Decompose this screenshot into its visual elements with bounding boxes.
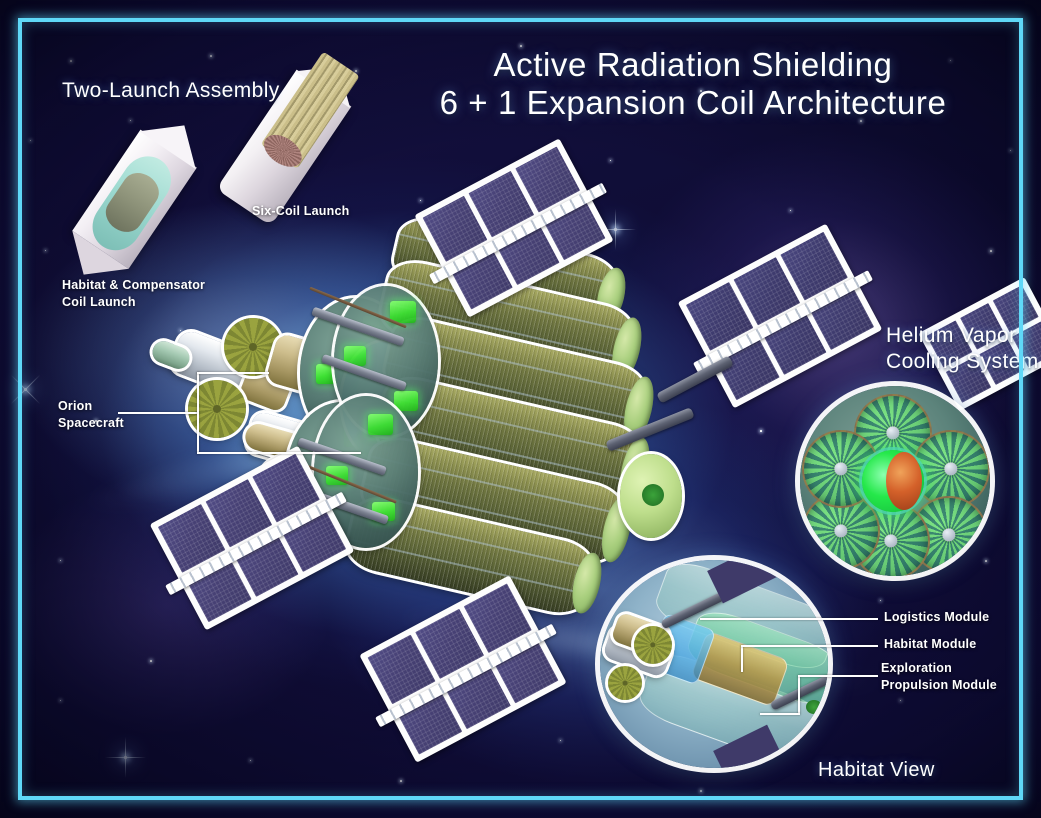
helium-vapor-inset <box>800 386 990 576</box>
habitat-module-label: Habitat Module <box>884 636 976 653</box>
title-line-1: Active Radiation Shielding <box>393 46 993 84</box>
orion-solar-array <box>634 626 672 664</box>
orion-solar-array <box>608 666 642 700</box>
habitat-compensator-launch-line-2: Coil Launch <box>62 294 205 311</box>
leader-line-habitat <box>741 645 878 647</box>
leader-line-logistics <box>700 618 878 620</box>
page-title: Active Radiation Shielding 6 + 1 Expansi… <box>393 46 993 123</box>
leader-line-exploration <box>798 675 878 677</box>
habitat-compensator-launch-line-1: Habitat & Compensator <box>62 277 205 294</box>
title-line-2: 6 + 1 Expansion Coil Architecture <box>393 84 993 122</box>
habitat-compensator-launch-label: Habitat & Compensator Coil Launch <box>62 277 205 311</box>
poster-canvas: Active Radiation Shielding 6 + 1 Expansi… <box>0 0 1041 818</box>
orion-label-line-1: Orion <box>58 398 124 415</box>
coil-cluster <box>286 276 706 606</box>
habitat-view-inset <box>600 560 828 768</box>
logistics-module-label: Logistics Module <box>884 609 989 626</box>
orion-label-line-2: Spacecraft <box>58 415 124 432</box>
helium-vapor-core <box>886 452 922 510</box>
helium-label-line-2: Cooling System <box>886 349 1039 375</box>
leader-line-orion <box>118 412 198 414</box>
two-launch-assembly-heading: Two-Launch Assembly <box>62 78 280 104</box>
habitat-view-heading: Habitat View <box>818 758 935 782</box>
exploration-propulsion-module-label: Exploration Propulsion Module <box>881 660 997 694</box>
aft-antenna-cluster <box>642 484 664 506</box>
leader-line-exploration <box>760 713 800 715</box>
leader-line-orion <box>197 452 361 454</box>
orion-spacecraft-label: Orion Spacecraft <box>58 398 124 432</box>
exploration-label-line-1: Exploration <box>881 660 997 677</box>
leader-line-orion <box>197 372 199 454</box>
exploration-label-line-2: Propulsion Module <box>881 677 997 694</box>
helium-vapor-cooling-heading: Helium Vapor Cooling System <box>886 323 1039 374</box>
leader-line-habitat <box>741 646 743 672</box>
leader-line-exploration <box>798 676 800 714</box>
helium-label-line-1: Helium Vapor <box>886 323 1039 349</box>
six-coil-launch-label: Six-Coil Launch <box>252 203 349 220</box>
aft-antenna <box>806 700 822 714</box>
leader-line-orion <box>197 372 269 374</box>
